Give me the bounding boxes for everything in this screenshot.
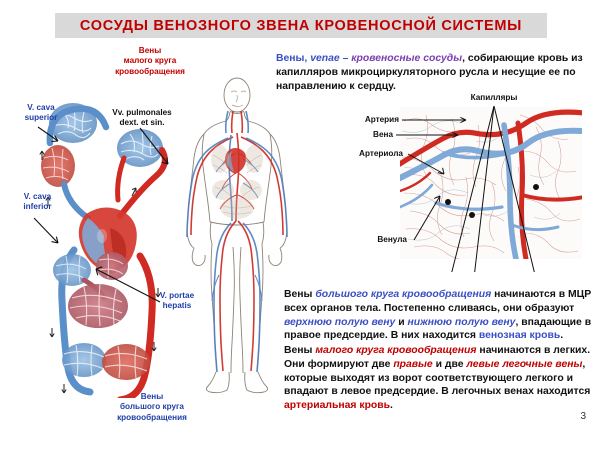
capillary-marker-2 — [469, 212, 475, 218]
capillary-bed-lower-body — [62, 343, 150, 380]
body-outline — [187, 78, 287, 393]
definition-term-lat: venae — [310, 53, 339, 64]
systemic-s5: и — [395, 317, 407, 328]
vessel-pulmonary-veins — [118, 158, 124, 200]
label-arteriole: Артериола — [331, 149, 403, 159]
page-title: СОСУДЫ ВЕНОЗНОГО ЗВЕНА КРОВЕНОСНОЙ СИСТЕ… — [80, 18, 522, 34]
circulation-scheme-svg — [28, 88, 193, 398]
systemic-term-superior-vena-cava: верхнюю полую вену — [284, 317, 395, 328]
human-body-vascular-figure — [183, 75, 291, 400]
label-pulmonary-circulation-veins: Вены малого круга кровообращения — [105, 46, 195, 77]
paragraph-systemic-veins: Вены большого круга кровообращения начин… — [284, 288, 596, 343]
systemic-term-inferior-vena-cava: нижнюю полую вену — [408, 317, 516, 328]
capillary-marker-1 — [445, 199, 451, 205]
definition-paragraph: Вены, venae – кровеносные сосуды, собира… — [276, 52, 594, 93]
circulation-scheme-figure — [28, 88, 193, 398]
label-artery: Артерия — [337, 115, 399, 125]
label-v-cava-inferior: V. cava inferior — [10, 192, 65, 213]
definition-expansion: кровеносные сосуды — [351, 53, 462, 64]
pulmonary-term-right: правые — [393, 359, 432, 370]
pulmonary-s9: . — [390, 400, 393, 411]
pulmonary-term-pulmonary-circulation: малого круга кровообращения — [315, 345, 476, 356]
paragraph-pulmonary-veins: Вены малого круга кровообращения начинаю… — [284, 344, 596, 413]
systemic-s1: Вены — [284, 289, 315, 300]
systemic-s9: . — [560, 330, 563, 341]
slide-title-band: СОСУДЫ ВЕНОЗНОГО ЗВЕНА КРОВЕНОСНОЙ СИСТЕ… — [55, 13, 547, 38]
microcirculation-panel — [400, 107, 582, 259]
pulmonary-term-arterial-blood: артериальная кровь — [284, 400, 390, 411]
vessel-upper-body-veins — [64, 184, 88, 218]
pulmonary-s1: Вены — [284, 345, 315, 356]
face-details — [231, 91, 246, 107]
slide-canvas: СОСУДЫ ВЕНОЗНОГО ЗВЕНА КРОВЕНОСНОЙ СИСТЕ… — [0, 0, 600, 450]
microcirculation-svg — [400, 107, 582, 259]
page-number: 3 — [580, 411, 586, 422]
human-body-svg — [183, 75, 291, 400]
label-vein: Вена — [337, 130, 393, 140]
capillary-bed-upper-left — [41, 145, 75, 187]
systemic-term-systemic-circulation: большого круга кровообращения — [315, 289, 491, 300]
pulmonary-term-left-pulmonary-veins: левые легочные вены — [466, 359, 582, 370]
definition-term-ru: Вены, — [276, 53, 310, 64]
definition-dash: – — [340, 53, 352, 64]
label-capillaries: Капилляры — [446, 93, 542, 103]
label-vv-pulmonales: Vv. pulmonales dext. et sin. — [96, 108, 188, 129]
pulmonary-s5: и две — [433, 359, 467, 370]
label-venule: Венула — [341, 235, 407, 245]
label-v-cava-superior: V. cava superior — [12, 103, 70, 124]
capillary-bed-liver — [68, 284, 128, 328]
systemic-term-venous-blood: венозная кровь — [479, 330, 560, 341]
capillary-marker-3 — [533, 184, 539, 190]
